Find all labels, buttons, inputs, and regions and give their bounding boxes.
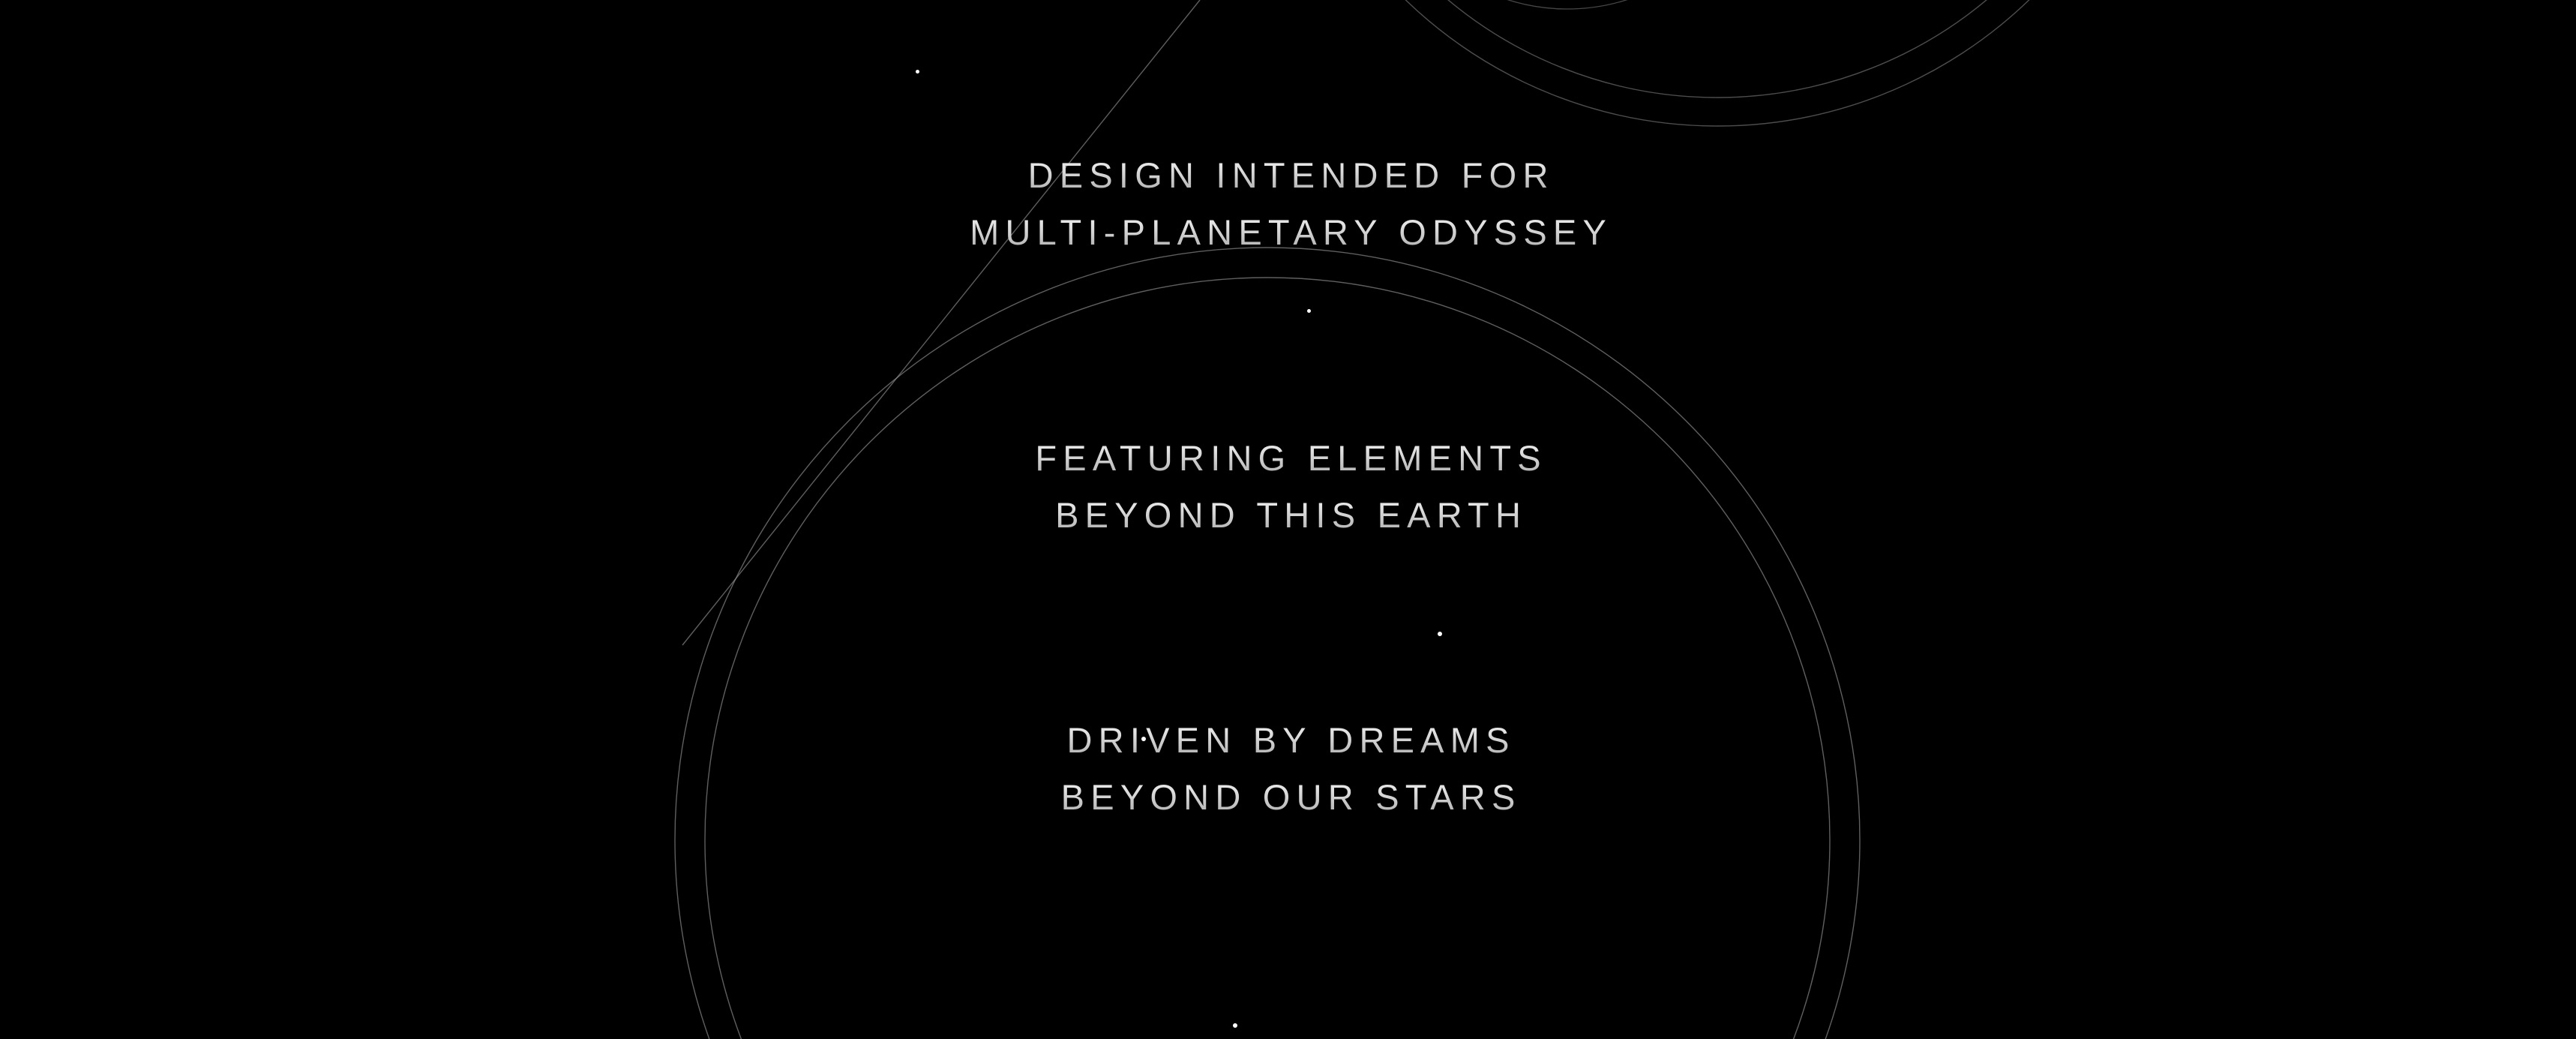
caption-stack: DESIGN INTENDED FOR MULTI-PLANETARY ODYS… [0,0,2576,1039]
caption-block-1: DESIGN INTENDED FOR MULTI-PLANETARY ODYS… [0,147,2576,261]
caption-block-3: DRIVEN BY DREAMS BEYOND OUR STARS [0,712,2576,826]
caption-line-1b: MULTI-PLANETARY ODYSSEY [0,204,2576,261]
caption-block-2: FEATURING ELEMENTS BEYOND THIS EARTH [0,430,2576,544]
title-screen: DESIGN INTENDED FOR MULTI-PLANETARY ODYS… [0,0,2576,1039]
caption-line-3a: DRIVEN BY DREAMS [0,712,2576,769]
caption-line-2b: BEYOND THIS EARTH [0,487,2576,544]
caption-line-3b: BEYOND OUR STARS [0,769,2576,826]
caption-line-2a: FEATURING ELEMENTS [0,430,2576,487]
caption-line-1a: DESIGN INTENDED FOR [0,147,2576,204]
